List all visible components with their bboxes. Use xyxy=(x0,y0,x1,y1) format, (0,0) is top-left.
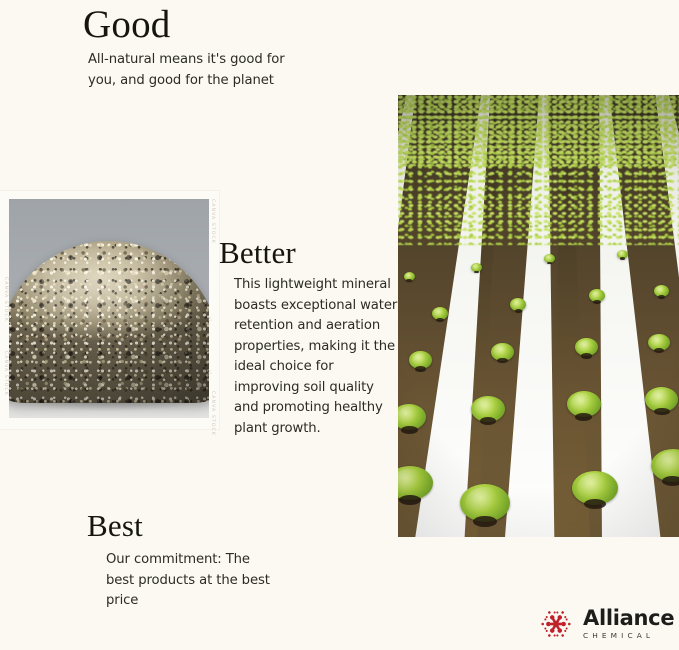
lettuce-plant xyxy=(471,263,482,272)
better-heading: Better xyxy=(219,235,296,271)
frame-tick-mark-upper: △ xyxy=(208,316,212,322)
lettuce-plant xyxy=(567,391,601,417)
frame-watermark-left-bottom: CANVA STOCK xyxy=(3,351,8,396)
good-body-text: All-natural means it's good for you, and… xyxy=(88,50,294,91)
best-body-text: Our commitment: The best products at the… xyxy=(106,550,282,612)
hydroponics-photo xyxy=(398,95,679,537)
logo-name: Alliance xyxy=(583,608,674,629)
lettuce-plant xyxy=(572,471,618,505)
lettuce-plant xyxy=(471,396,505,422)
lettuce-plant xyxy=(491,343,514,361)
mound-shading xyxy=(9,241,209,403)
vermiculite-photo-frame: CANVA STOCK CANVA STOCK CANVA STOCK CANV… xyxy=(0,191,219,429)
best-heading: Best xyxy=(87,508,143,544)
frame-watermark-left-top: CANVA STOCK xyxy=(3,277,8,322)
frame-watermark-right-top: CANVA STOCK xyxy=(210,199,215,244)
lettuce-plant xyxy=(460,484,510,522)
frame-watermark-right-bottom: CANVA STOCK xyxy=(210,391,215,436)
lettuce-plant xyxy=(645,387,678,412)
molecule-icon xyxy=(537,605,575,643)
vermiculite-photo xyxy=(9,199,209,418)
lettuce-plant xyxy=(432,307,448,320)
lettuce-plant xyxy=(648,334,670,351)
logo-wordmark: Alliance CHEMICAL xyxy=(583,608,674,639)
alliance-chemical-logo: Alliance CHEMICAL xyxy=(537,604,673,644)
frame-tick-mark-lower: △ xyxy=(208,369,212,375)
promo-infographic: Good All-natural means it's good for you… xyxy=(0,0,679,650)
vermiculite-mound xyxy=(9,241,209,403)
better-body-text: This lightweight mineral boasts exceptio… xyxy=(234,275,400,439)
lettuce-plant xyxy=(654,285,669,297)
lettuce-plant xyxy=(617,250,628,259)
horizon-seedlings xyxy=(398,95,679,166)
good-heading: Good xyxy=(83,2,170,47)
lettuce-plant xyxy=(575,338,598,356)
logo-subtitle: CHEMICAL xyxy=(583,632,674,639)
lettuce-plant xyxy=(404,272,415,281)
